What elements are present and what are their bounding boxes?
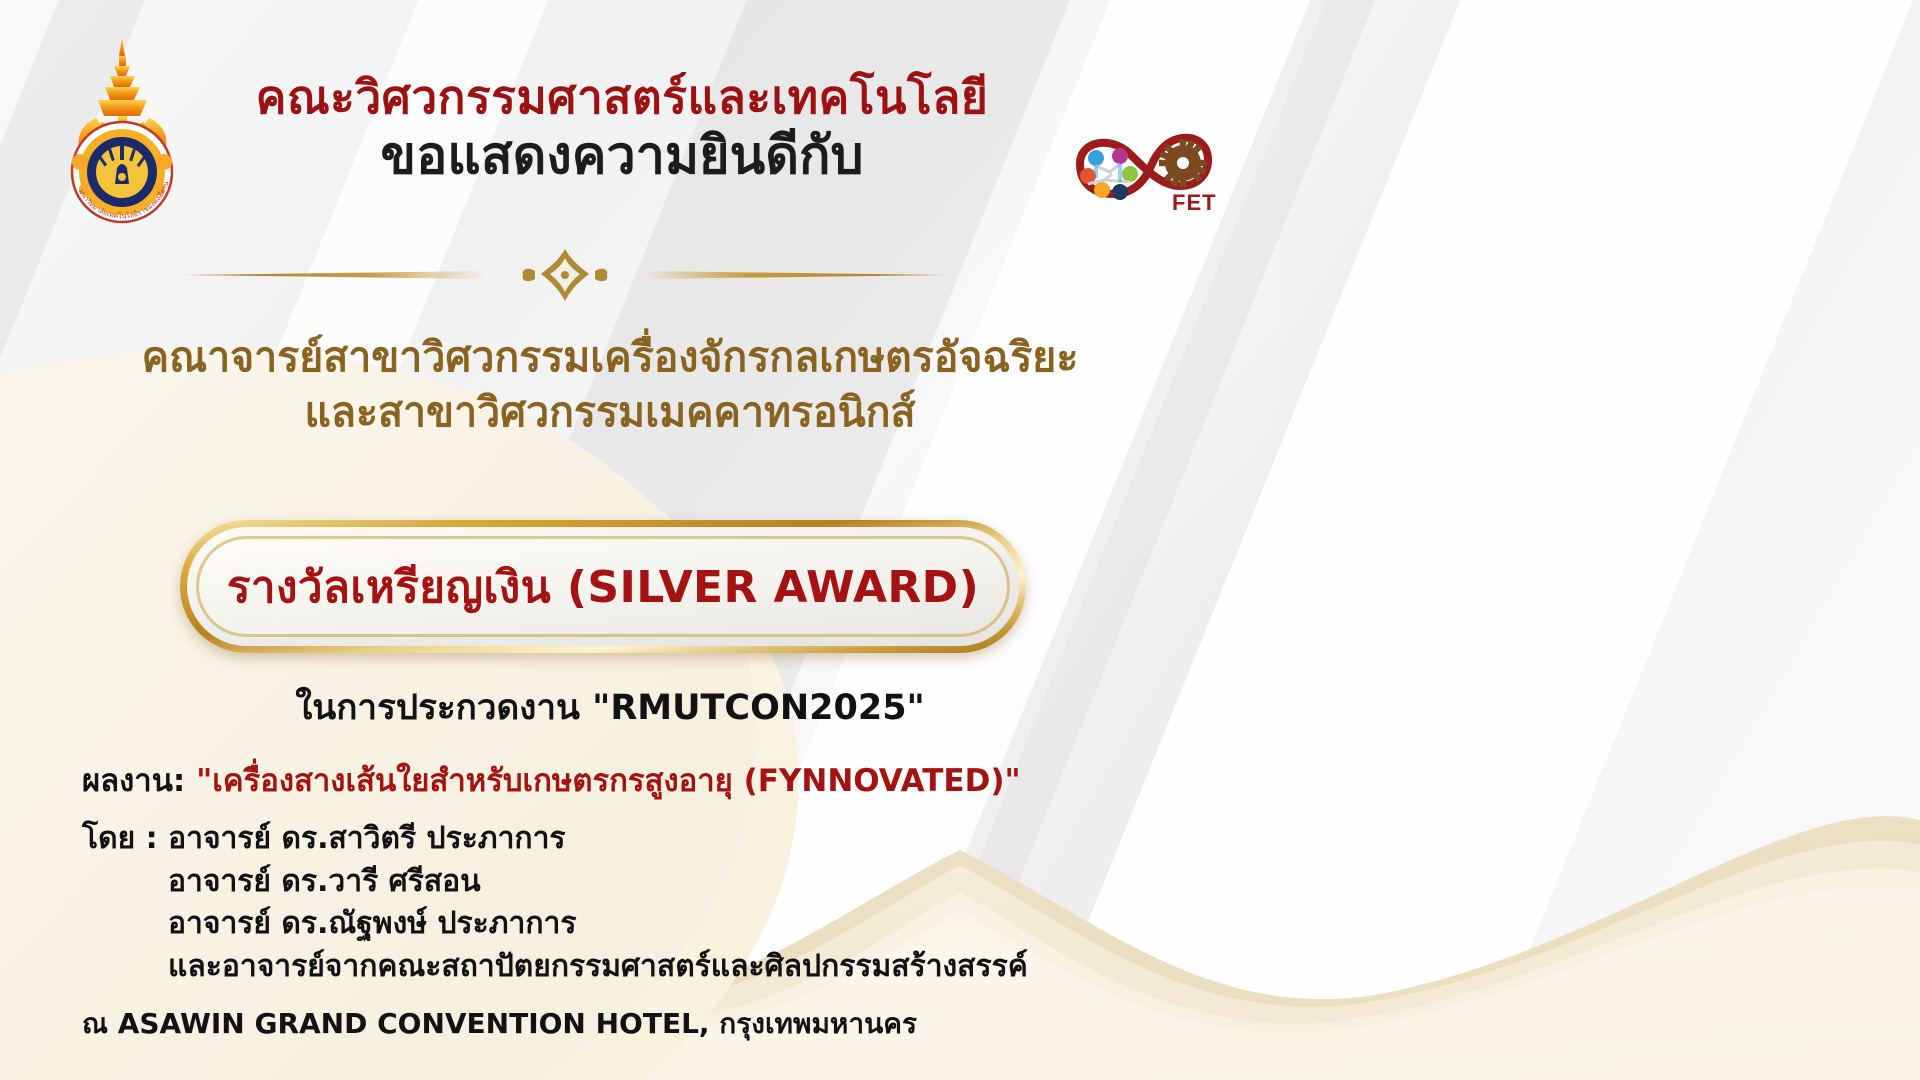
- recipient-line-2: และสาขาวิศวกรรมเมคคาทรอนิกส์: [20, 385, 1200, 440]
- author-list: โดย : อาจารย์ ดร.สาวิตรี ประภาการ อาจารย…: [82, 818, 1212, 988]
- award-badge-label: รางวัลเหรียญเงิน (SILVER AWARD): [227, 552, 979, 622]
- author-label: โดย :: [82, 821, 158, 856]
- poster-content-column: มหาวิทยาลัยเทคโนโลยีราชมงคลอีสาน คณะวิศว…: [0, 0, 1215, 1080]
- congratulations-heading: ขอแสดงความยินดีกับ: [202, 126, 1042, 187]
- photo-gallery: การประชุมวิชาการระดับชาติมหาวิทยาลัยเทคโ…: [1210, 0, 1920, 1080]
- work-title: "เครื่องสางเส้นใยสำหรับเกษตรกรสูงอายุ (F…: [196, 763, 1021, 799]
- author-name: อาจารย์ ดร.ณัฐพงษ์ ประภาการ: [168, 906, 576, 941]
- faculty-name-heading: คณะวิศวกรรมศาสตร์และเทคโนโลยี: [202, 72, 1042, 124]
- author-name: อาจารย์ ดร.วารี ศรีสอน: [168, 864, 481, 899]
- recipient-line-1: คณาจารย์สาขาวิศวกรรมเครื่องจักรกลเกษตรอั…: [142, 333, 1079, 381]
- thai-ornament-divider-icon: [185, 248, 945, 302]
- work-title-row: ผลงาน: "เครื่องสางเส้นใยสำหรับเกษตรกรสูง…: [82, 755, 1212, 805]
- award-badge-inner: รางวัลเหรียญเงิน (SILVER AWARD): [193, 533, 1013, 640]
- work-label: ผลงาน:: [82, 763, 185, 799]
- competition-name: ในการประกวดงาน "RMUTCON2025": [20, 680, 1200, 735]
- award-badge: รางวัลเหรียญเงิน (SILVER AWARD): [180, 520, 1026, 653]
- venue-line: ณ ASAWIN GRAND CONVENTION HOTEL, กรุงเทพ…: [82, 1002, 1212, 1046]
- rmut-university-emblem-icon: มหาวิทยาลัยเทคโนโลยีราชมงคลอีสาน: [60, 34, 185, 224]
- author-name: อาจารย์ ดร.สาวิตรี ประภาการ: [168, 821, 565, 856]
- award-recipients: คณาจารย์สาขาวิศวกรรมเครื่องจักรกลเกษตรอั…: [20, 330, 1200, 440]
- poster-header: มหาวิทยาลัยเทคโนโลยีราชมงคลอีสาน คณะวิศว…: [52, 26, 1182, 216]
- author-name: และอาจารย์จากคณะสถาปัตยกรรมศาสตร์และศิลป…: [168, 949, 1028, 984]
- poster-title-block: คณะวิศวกรรมศาสตร์และเทคโนโลยี ขอแสดงความ…: [202, 72, 1042, 187]
